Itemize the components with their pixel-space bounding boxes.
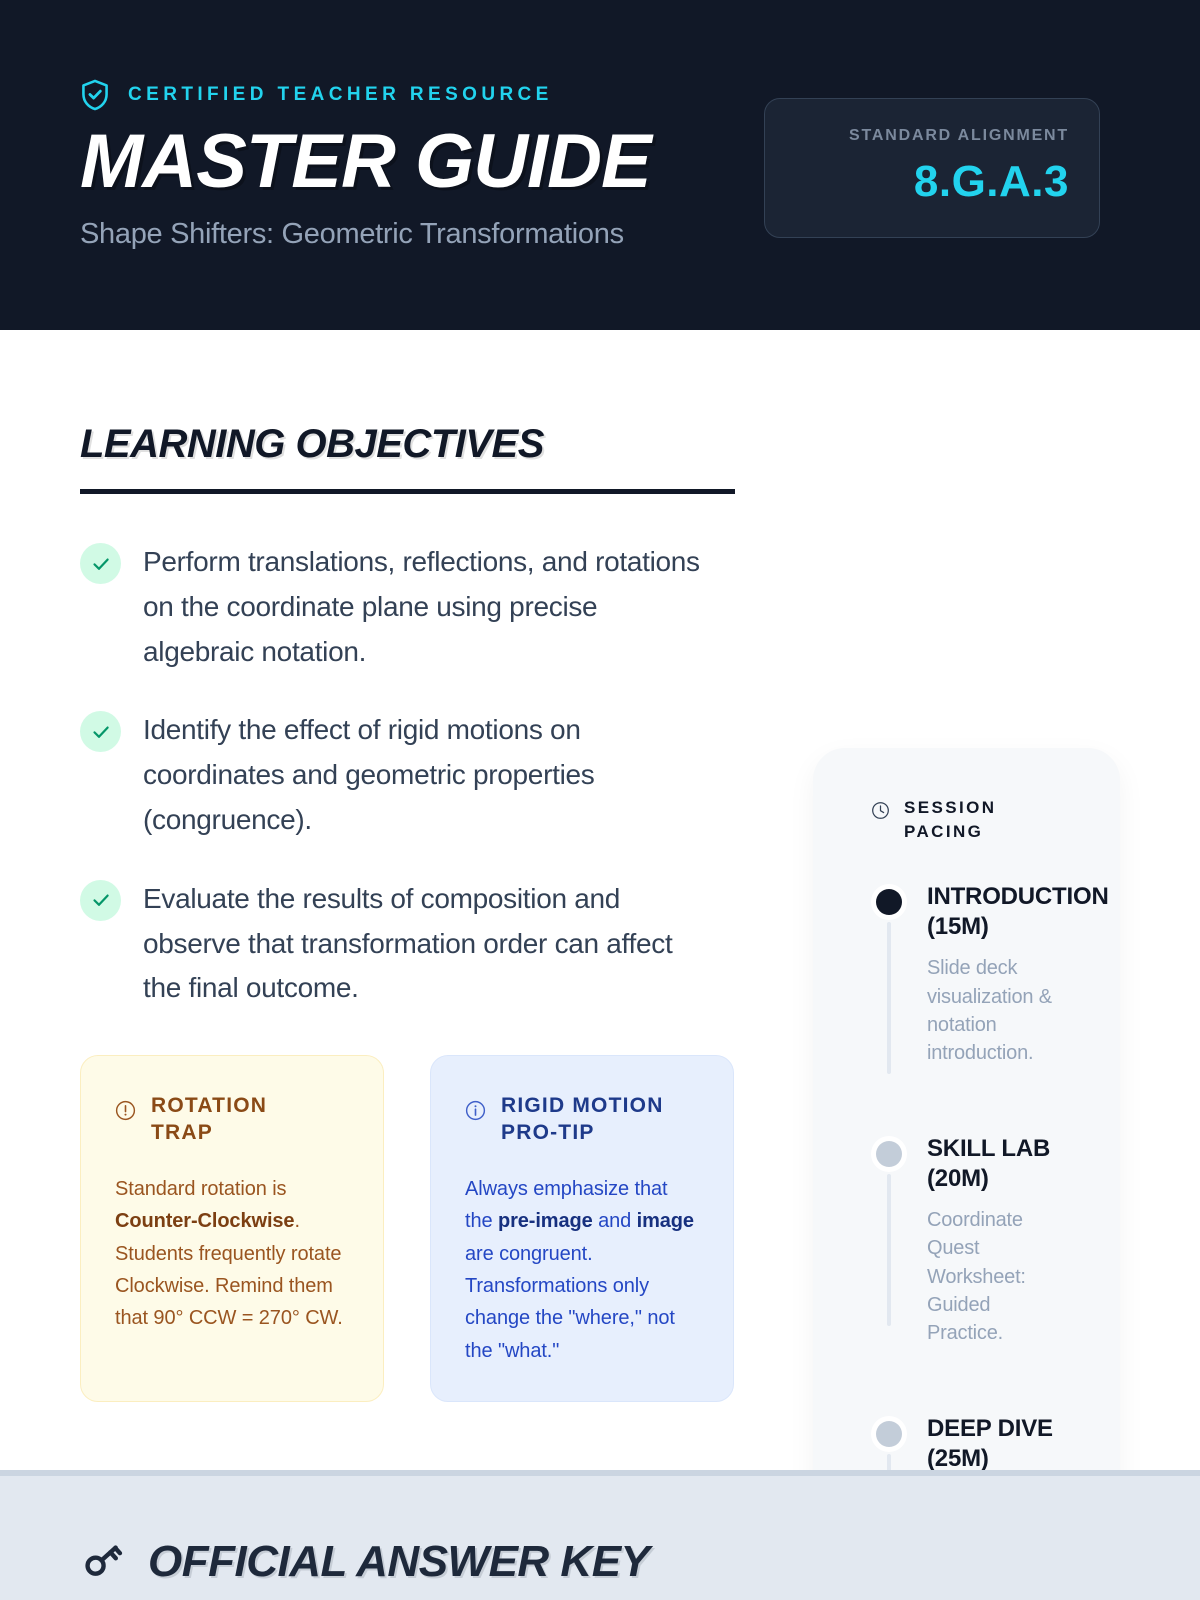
timeline-step: INTRODUCTION (15M) Slide deck visualizat… (871, 882, 1120, 1068)
timeline-step: SKILL LAB (20M) Coordinate Quest Workshe… (871, 1134, 1120, 1348)
learning-objectives-heading: LEARNING OBJECTIVES (80, 422, 735, 467)
timeline-step-title: SKILL LAB (20M) (927, 1134, 1120, 1194)
timeline-step-desc: Slide deck visualization & notation intr… (927, 954, 1059, 1068)
rigid-motion-pro-tip-card: RIGID MOTION PRO-TIP Always emphasize th… (430, 1055, 734, 1402)
rotation-trap-card: ROTATION TRAP Standard rotation is Count… (80, 1055, 384, 1402)
page-header: CERTIFIED TEACHER RESOURCE MASTER GUIDE … (0, 0, 1200, 330)
standard-alignment-badge: STANDARD ALIGNMENT 8.G.A.3 (764, 98, 1100, 238)
clock-icon (871, 801, 890, 825)
standard-alignment-value: 8.G.A.3 (795, 157, 1069, 207)
timeline-step-title: INTRODUCTION (15M) (927, 882, 1120, 942)
callout-title: ROTATION TRAP (151, 1092, 336, 1147)
answer-key-section: OFFICIAL ANSWER KEY (0, 1470, 1200, 1600)
timeline-dot (871, 1136, 907, 1172)
objective-text: Perform translations, reflections, and r… (143, 540, 708, 674)
section-divider (80, 489, 735, 494)
check-circle-icon (80, 711, 121, 752)
session-pacing-label: SESSION PACING (904, 796, 996, 844)
timeline-dot-active (871, 884, 907, 920)
eyebrow-label: CERTIFIED TEACHER RESOURCE (128, 84, 553, 106)
session-pacing-header: SESSION PACING (871, 796, 1120, 844)
list-item: Evaluate the results of composition and … (80, 877, 735, 1011)
callout-body: Always emphasize that the pre-image and … (465, 1173, 699, 1367)
timeline-dot (871, 1416, 907, 1452)
list-item: Perform translations, reflections, and r… (80, 540, 735, 674)
callout-body: Standard rotation is Counter-Clockwise. … (115, 1173, 349, 1335)
timeline-step-desc: Coordinate Quest Worksheet: Guided Pract… (927, 1206, 1059, 1348)
list-item: Identify the effect of rigid motions on … (80, 708, 735, 842)
objective-text: Identify the effect of rigid motions on … (143, 708, 708, 842)
timeline-connector (887, 922, 891, 1074)
shield-check-icon (80, 79, 110, 111)
callout-header: ROTATION TRAP (115, 1092, 349, 1147)
info-circle-icon (465, 1100, 486, 1126)
page-body: LEARNING OBJECTIVES Perform translations… (0, 330, 1200, 1470)
timeline-step-title: DEEP DIVE (25M) (927, 1414, 1120, 1474)
callout-header: RIGID MOTION PRO-TIP (465, 1092, 699, 1147)
callout-cards: ROTATION TRAP Standard rotation is Count… (80, 1055, 735, 1402)
standard-alignment-label: STANDARD ALIGNMENT (795, 127, 1069, 145)
check-circle-icon (80, 880, 121, 921)
answer-key-title: OFFICIAL ANSWER KEY (148, 1537, 649, 1587)
timeline-connector (887, 1174, 891, 1326)
objective-text: Evaluate the results of composition and … (143, 877, 708, 1011)
check-circle-icon (80, 543, 121, 584)
objectives-list: Perform translations, reflections, and r… (80, 540, 735, 1011)
callout-title: RIGID MOTION PRO-TIP (501, 1092, 686, 1147)
answer-key-header: OFFICIAL ANSWER KEY (80, 1536, 1200, 1587)
main-column: LEARNING OBJECTIVES Perform translations… (80, 422, 735, 1402)
key-icon (80, 1536, 126, 1587)
alert-circle-icon (115, 1100, 136, 1126)
